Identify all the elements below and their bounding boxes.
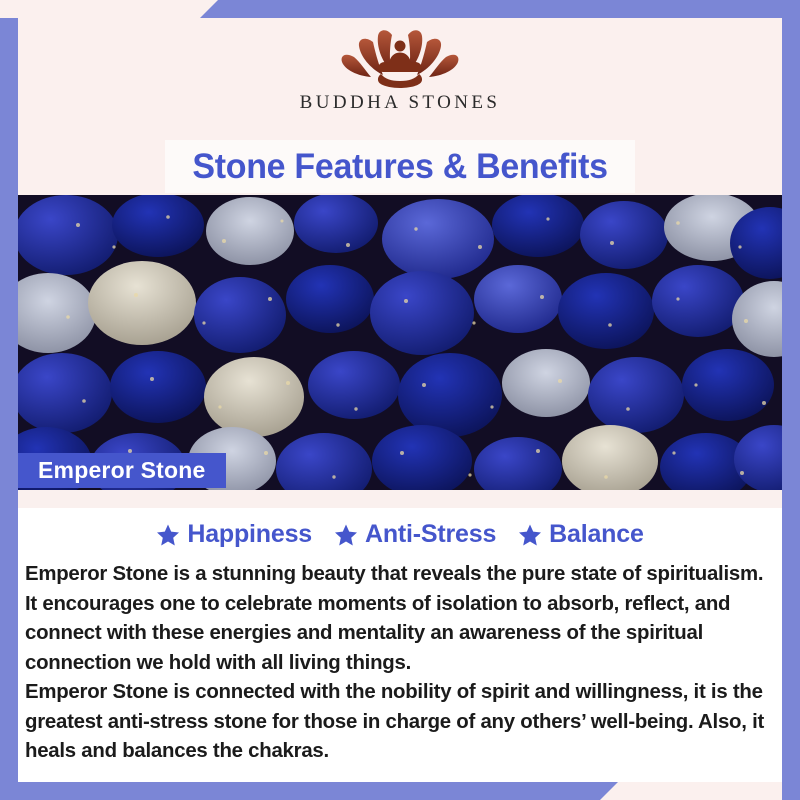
description-paragraph-2: Emperor Stone is connected with the nobi… <box>25 678 777 767</box>
description-paragraph-1: Emperor Stone is a stunning beauty that … <box>25 560 777 678</box>
star-icon <box>156 523 180 547</box>
benefit-label: Balance <box>549 520 644 549</box>
stone-name-label: Emperor Stone <box>38 457 205 484</box>
benefit-label: Anti-Stress <box>365 520 496 549</box>
content-canvas: BUDDHA STONES Stone Features & Benefits <box>18 18 782 782</box>
benefit-item-anti-stress: Anti-Stress <box>334 520 496 549</box>
page-title-band: Stone Features & Benefits <box>165 140 635 193</box>
benefit-item-balance: Balance <box>518 520 644 549</box>
benefit-label: Happiness <box>187 520 312 549</box>
frame-bottom-bar <box>0 782 618 800</box>
brand-name: BUDDHA STONES <box>300 92 501 114</box>
description-text: Emperor Stone is a stunning beauty that … <box>25 560 777 767</box>
panel-top-tint <box>18 490 782 508</box>
stone-name-badge: Emperor Stone <box>18 453 226 488</box>
star-icon <box>518 523 542 547</box>
page-title: Stone Features & Benefits <box>192 147 607 187</box>
lotus-meditation-figure-icon <box>325 24 475 90</box>
frame-left-bar <box>0 18 18 800</box>
frame-right-bar <box>782 0 800 800</box>
stone-photo <box>18 195 782 490</box>
infographic-page: BUDDHA STONES Stone Features & Benefits <box>0 0 800 800</box>
benefit-item-happiness: Happiness <box>156 520 312 549</box>
benefits-row: Happiness Anti-Stress <box>18 520 782 549</box>
description-panel: Happiness Anti-Stress <box>18 490 782 782</box>
star-icon <box>334 523 358 547</box>
frame-top-bar <box>200 0 800 18</box>
brand-header: BUDDHA STONES <box>18 18 782 122</box>
